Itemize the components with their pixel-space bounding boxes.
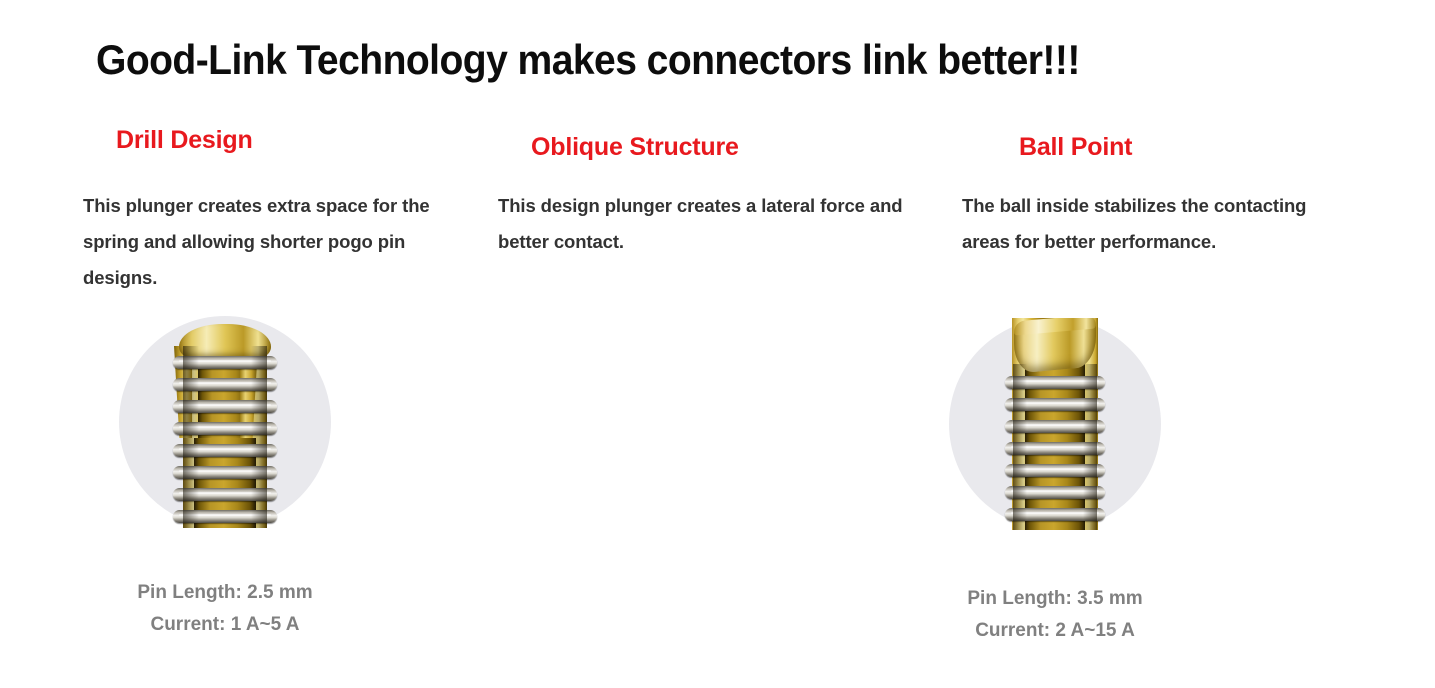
feature-description-ball-point: The ball inside stabilizes the contactin…	[962, 188, 1357, 260]
pogo-pin-drill-icon	[119, 316, 331, 528]
feature-column-oblique-structure: Oblique Structure This design plunger cr…	[415, 0, 895, 688]
feature-heading-oblique-structure: Oblique Structure	[531, 133, 739, 162]
slide-canvas: Good-Link Technology makes connectors li…	[0, 0, 1435, 688]
current-value: Current: 1 A~5 A	[119, 609, 331, 641]
feature-image-drill-design	[119, 316, 331, 528]
feature-column-ball-point: Ball Point The ball inside stabilizes th…	[880, 0, 1380, 688]
feature-description-oblique-structure: This design plunger creates a lateral fo…	[498, 188, 903, 260]
feature-specs-drill-design: Pin Length: 2.5 mm Current: 1 A~5 A	[119, 577, 331, 641]
feature-column-drill-design: Drill Design This plunger creates extra …	[0, 0, 480, 688]
pin-length-value: Pin Length: 2.5 mm	[119, 577, 331, 609]
feature-heading-drill-design: Drill Design	[116, 126, 253, 155]
feature-heading-ball-point: Ball Point	[1019, 133, 1132, 162]
